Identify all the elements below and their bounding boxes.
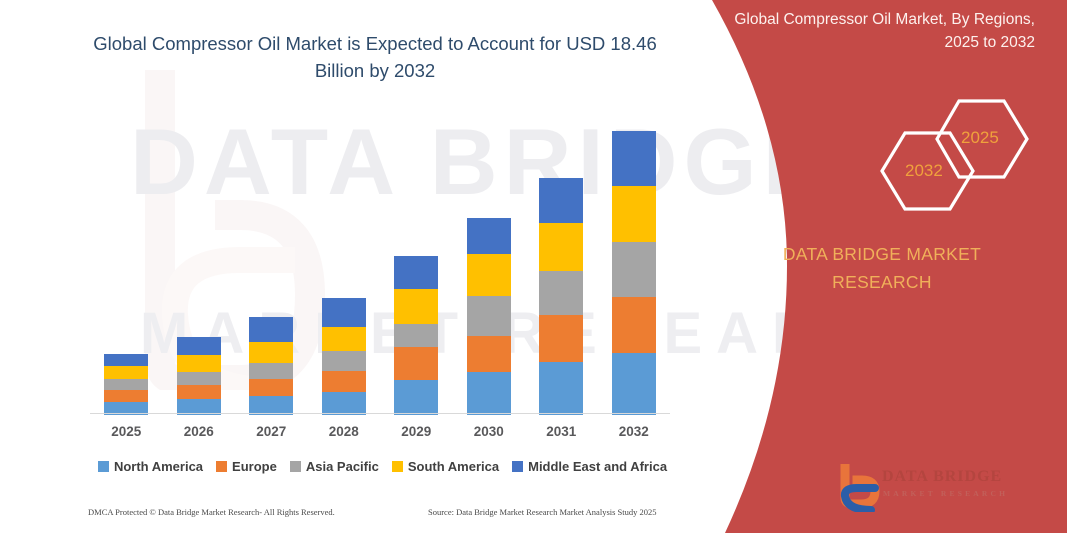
logo-text-bottom: MARKET RESEARCH: [883, 489, 1008, 498]
bar-segment: [322, 351, 366, 371]
bar-segment: [539, 178, 583, 223]
bar-segment: [467, 336, 511, 372]
bar-segment: [612, 353, 656, 415]
legend-swatch-icon: [98, 461, 109, 472]
bar-segment: [249, 363, 293, 379]
x-axis-label: 2026: [169, 424, 229, 439]
legend-label: Europe: [232, 459, 277, 474]
bar-segment: [177, 337, 221, 355]
bar-segment: [467, 254, 511, 296]
legend-swatch-icon: [216, 461, 227, 472]
legend-swatch-icon: [512, 461, 523, 472]
hexagon-right-label: 2025: [961, 128, 999, 148]
x-axis-label: 2029: [386, 424, 446, 439]
bar-segment: [322, 392, 366, 415]
bar-segment: [539, 362, 583, 415]
legend-item: South America: [392, 459, 499, 474]
legend-swatch-icon: [290, 461, 301, 472]
bar-segment: [394, 324, 438, 347]
bar-segment: [394, 256, 438, 289]
bar-group: [249, 317, 293, 415]
x-axis-label: 2032: [604, 424, 664, 439]
company-logo: DATA BRIDGE MARKET RESEARCH: [837, 462, 1037, 514]
bar-segment: [467, 218, 511, 254]
bar-segment: [467, 372, 511, 415]
bar-segment: [177, 385, 221, 399]
bar-segment: [104, 379, 148, 390]
bar-segment: [539, 315, 583, 362]
brand-panel: Global Compressor Oil Market, By Regions…: [667, 0, 1067, 533]
hexagon-left-label: 2032: [905, 161, 943, 181]
x-axis-labels: 20252026202720282029203020312032: [90, 424, 670, 446]
bar-segment: [104, 390, 148, 402]
bar-segment: [104, 354, 148, 366]
legend-item: Asia Pacific: [290, 459, 379, 474]
x-axis-label: 2027: [241, 424, 301, 439]
legend-swatch-icon: [392, 461, 403, 472]
bar-segment: [612, 186, 656, 242]
bar-segment: [322, 327, 366, 351]
bar-segment: [177, 355, 221, 372]
bar-segment: [177, 372, 221, 385]
legend-item: North America: [98, 459, 203, 474]
x-axis-label: 2028: [314, 424, 374, 439]
legend-label: Asia Pacific: [306, 459, 379, 474]
brand-name: DATA BRIDGE MARKET RESEARCH: [727, 240, 1037, 296]
legend-label: Middle East and Africa: [528, 459, 667, 474]
chart-legend: North AmericaEuropeAsia PacificSouth Ame…: [90, 455, 675, 477]
bar-group: [104, 354, 148, 415]
x-axis-label: 2031: [531, 424, 591, 439]
bar-segment: [539, 271, 583, 315]
logo-text-top: DATA BRIDGE: [882, 468, 1002, 486]
legend-item: Middle East and Africa: [512, 459, 667, 474]
bar-segment: [322, 298, 366, 327]
chart-plot-area: [90, 120, 680, 415]
bar-segment: [322, 371, 366, 392]
chart-title: Global Compressor Oil Market is Expected…: [75, 31, 675, 85]
footer-copyright: DMCA Protected © Data Bridge Market Rese…: [88, 507, 335, 517]
bar-group: [177, 337, 221, 415]
bar-segment: [249, 342, 293, 363]
x-axis-line: [90, 413, 670, 414]
legend-label: North America: [114, 459, 203, 474]
bar-segment: [539, 223, 583, 271]
bar-segment: [612, 242, 656, 297]
bar-group: [467, 218, 511, 415]
bar-segment: [467, 296, 511, 336]
legend-item: Europe: [216, 459, 277, 474]
bar-segment: [249, 317, 293, 342]
bar-group: [394, 256, 438, 415]
bar-group: [539, 178, 583, 415]
bar-segment: [394, 289, 438, 324]
bar-group: [612, 131, 656, 415]
x-axis-label: 2025: [96, 424, 156, 439]
footer-source: Source: Data Bridge Market Research Mark…: [428, 507, 657, 517]
footer: DMCA Protected © Data Bridge Market Rese…: [88, 507, 678, 523]
brand-line-2: RESEARCH: [832, 272, 932, 292]
brand-line-1: DATA BRIDGE MARKET: [783, 244, 981, 264]
bar-segment: [394, 347, 438, 380]
bar-group: [322, 298, 366, 415]
bar-segment: [612, 297, 656, 353]
bar-segment: [104, 366, 148, 379]
x-axis-label: 2030: [459, 424, 519, 439]
logo-mark-icon: [837, 464, 881, 512]
bar-segment: [249, 379, 293, 396]
legend-label: South America: [408, 459, 499, 474]
bar-segment: [394, 380, 438, 415]
bar-segment: [612, 131, 656, 186]
